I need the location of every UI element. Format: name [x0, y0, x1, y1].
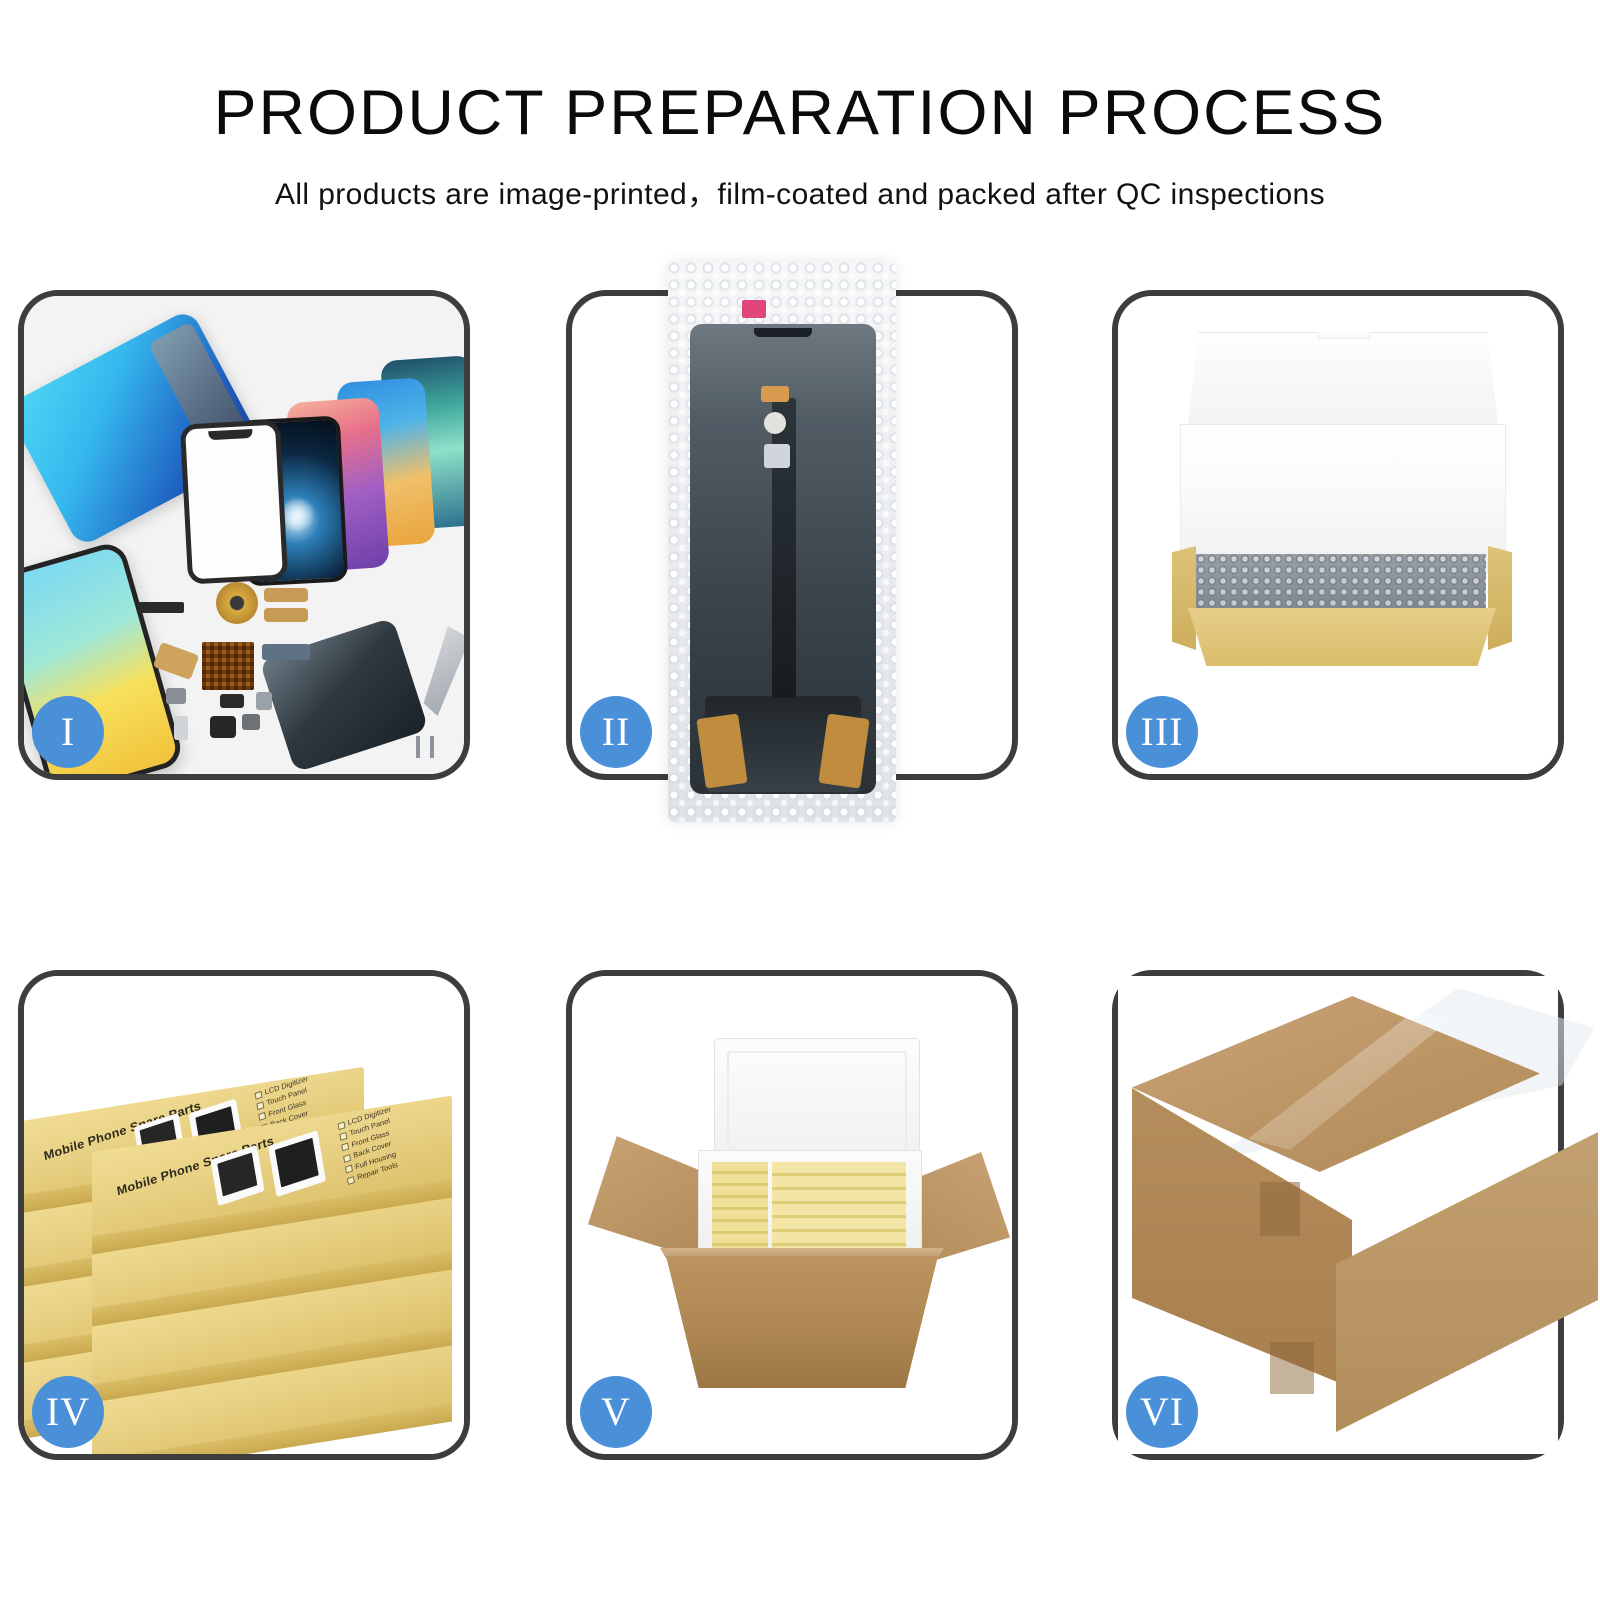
small-part-2-icon: [220, 694, 244, 708]
carton-body-icon: [666, 1256, 938, 1388]
step-panel-6[interactable]: VI: [1112, 970, 1564, 1460]
step-badge-4: IV: [32, 1376, 104, 1448]
right-flex-icon: [818, 713, 869, 788]
carton-right-face-icon: [1336, 1132, 1598, 1432]
foam-sheet-icon: [1180, 424, 1506, 574]
checklist-item: LCD Digitizer: [254, 1073, 309, 1101]
step-6-image: [1118, 976, 1558, 1454]
checklist-item: Full Housing: [344, 1147, 399, 1175]
checklist-item: Touch Panel: [339, 1114, 394, 1142]
sealed-carton-icon: [1132, 996, 1600, 1426]
small-part-4-icon: [242, 714, 260, 730]
checklist-item: Repair Tools: [346, 1158, 401, 1186]
retail-boxes-inside-icon: [712, 1162, 906, 1254]
checklist-item: Back Cover: [342, 1136, 397, 1164]
screws-icon: [412, 736, 452, 758]
carton-tab-1-icon: [1260, 1182, 1300, 1236]
page-title: PRODUCT PREPARATION PROCESS: [0, 0, 1600, 145]
step-panel-4[interactable]: Mobile Phone Spare Parts LCD Digitizer T…: [18, 970, 470, 1460]
sim-tray-icon: [174, 716, 188, 740]
shipping-carton-open-icon: [624, 1012, 974, 1392]
connector-icon: [764, 444, 790, 468]
step-1-image: [24, 296, 464, 774]
step-4-image: Mobile Phone Spare Parts LCD Digitizer T…: [24, 976, 464, 1454]
lcd-assembly-icon: [690, 324, 876, 794]
step-badge-3: III: [1126, 696, 1198, 768]
step-5-image: [572, 976, 1012, 1454]
step-3-image: [1118, 296, 1558, 774]
checklist-item: Front Glass: [341, 1125, 396, 1153]
lcd-flex-cable-icon: [772, 398, 796, 698]
lcd-notch-icon: [754, 328, 812, 337]
camera-module-icon: [210, 716, 236, 738]
orange-tape-icon: [761, 386, 789, 402]
step-panel-3[interactable]: III: [1112, 290, 1564, 780]
label-phone-image-2: [268, 1130, 326, 1197]
carton-tab-2-icon: [1270, 1342, 1314, 1394]
small-part-3-icon: [256, 692, 272, 710]
step-badge-6: VI: [1126, 1376, 1198, 1448]
step-panel-5[interactable]: V: [566, 970, 1018, 1460]
flex-cable-c-icon: [262, 644, 310, 660]
flex-cable-b-icon: [264, 608, 308, 622]
step-2-image: [572, 296, 1012, 774]
mailer-flap-left-icon: [1172, 546, 1196, 650]
step-panel-2[interactable]: II: [566, 290, 1018, 780]
logic-board-icon: [202, 642, 254, 690]
pink-qc-tape-icon: [742, 300, 766, 318]
step-badge-2: II: [580, 696, 652, 768]
page-subtitle: All products are image-printed，film-coat…: [0, 145, 1600, 213]
step-panel-1[interactable]: I: [18, 290, 470, 780]
small-part-1-icon: [166, 688, 186, 704]
header: PRODUCT PREPARATION PROCESS All products…: [0, 0, 1600, 213]
vibrator-coil-icon: [216, 582, 258, 624]
retail-box-stack: Mobile Phone Spare Parts LCD Digitizer T…: [24, 1006, 464, 1436]
bubble-wrap-sleeve-icon: [668, 262, 896, 822]
mailer-front-panel-icon: [1188, 608, 1496, 666]
step-badge-5: V: [580, 1376, 652, 1448]
speaker-bar-icon: [138, 602, 184, 613]
mailer-box-icon: [1166, 332, 1518, 704]
checklist-item: Touch Panel: [256, 1084, 311, 1112]
flex-cable-a-icon: [264, 588, 308, 602]
front-glass-icon: [180, 419, 288, 584]
retail-box-checklist: LCD Digitizer Touch Panel Front Glass Ba…: [337, 1103, 401, 1186]
mailer-flap-right-icon: [1488, 546, 1512, 650]
process-step-grid: I II: [0, 290, 1600, 1460]
step-badge-1: I: [32, 696, 104, 768]
styrofoam-lid-icon: [714, 1038, 920, 1164]
label-phone-image-1: [211, 1145, 265, 1206]
